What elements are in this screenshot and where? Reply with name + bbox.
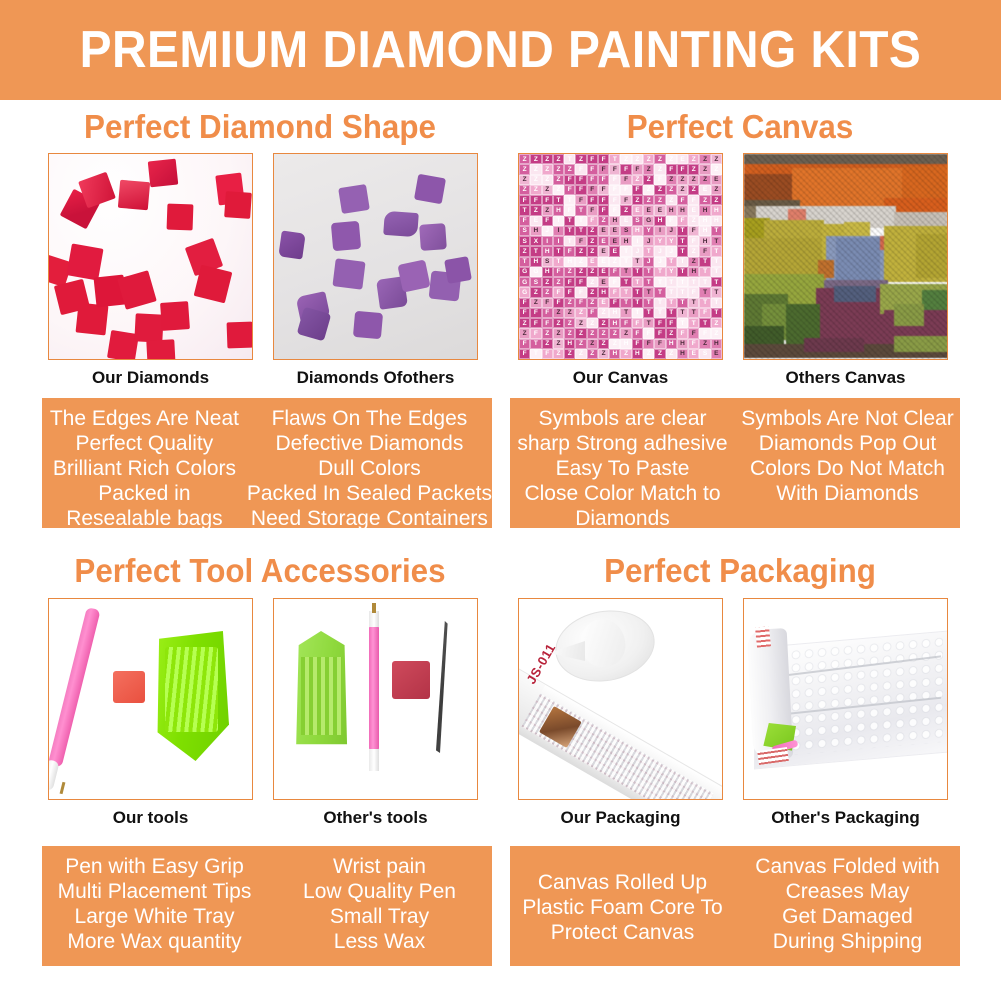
canvas-symbol-cell: Z [632, 175, 643, 185]
textblock-canvas: Symbols are clear sharp Strong adhesive … [510, 398, 960, 528]
canvas-symbol-cell: T [575, 205, 586, 215]
canvas-symbol-cell: E [688, 349, 699, 359]
canvas-symbol-cell: H [632, 349, 643, 359]
canvas-symbol-cell: Z [587, 318, 598, 328]
canvas-symbol-cell: Z [587, 287, 598, 297]
canvas-symbol-cell: T [519, 257, 530, 267]
canvas-symbol-cell: Z [688, 257, 699, 267]
pen-cap [369, 749, 379, 771]
canvas-symbol-cell: Z [564, 318, 575, 328]
canvas-symbol-cell: E [609, 226, 620, 236]
canvas-symbol-cell: E [654, 205, 665, 215]
canvas-symbol-cell: H [666, 339, 677, 349]
bullet: Canvas Rolled Up [538, 870, 707, 895]
canvas-symbol-cell: T [711, 277, 722, 287]
bullet: Colors Do Not Match [750, 456, 945, 481]
canvas-symbol-cell: T [564, 195, 575, 205]
canvas-symbol-cell: Z [666, 154, 677, 164]
canvas-symbol-cell: T [530, 246, 541, 256]
canvas-symbol-cell: F [666, 216, 677, 226]
canvas-symbol-cell: Z [699, 175, 710, 185]
image-panel-our-tools [48, 598, 253, 800]
canvas-symbol-cell: Z [643, 349, 654, 359]
canvas-symbol-cell: F [620, 185, 631, 195]
canvas-symbol-cell: Z [587, 339, 598, 349]
canvas-symbol-cell: H [553, 205, 564, 215]
textblock-canvas-right: Symbols Are Not Clear Diamonds Pop Out C… [735, 398, 960, 528]
canvas-symbol-cell: F [542, 349, 553, 359]
canvas-symbol-cell: Z [519, 175, 530, 185]
canvas-symbol-cell: T [711, 246, 722, 256]
canvas-symbol-cell: Z [530, 205, 541, 215]
canvas-symbol-cell: T [688, 277, 699, 287]
canvas-symbol-cell: F [575, 175, 586, 185]
bullet: Perfect Quality [76, 431, 214, 456]
bullet: Packed in [98, 481, 190, 506]
symbol-grid: ZZZZTZFFTZZZZZEZZZZZZZZFFFFFFZZFFZZZZZZZ… [519, 154, 722, 359]
canvas-symbol-cell: F [530, 195, 541, 205]
bullet: Close Color Match to [524, 481, 720, 506]
caption-others-tools: Other's tools [273, 808, 478, 828]
canvas-symbol-cell: F [699, 308, 710, 318]
canvas-symbol-cell: E [699, 185, 710, 195]
canvas-symbol-cell: F [564, 175, 575, 185]
bullet: More Wax quantity [67, 929, 241, 954]
canvas-symbol-cell: Z [666, 349, 677, 359]
canvas-symbol-cell: Z [654, 349, 665, 359]
canvas-symbol-cell: Z [711, 195, 722, 205]
canvas-symbol-cell: Z [688, 164, 699, 174]
canvas-symbol-cell: T [666, 257, 677, 267]
canvas-symbol-cell: Z [609, 328, 620, 338]
canvas-symbol-cell: T [654, 277, 665, 287]
canvas-symbol-cell: Z [553, 349, 564, 359]
canvas-symbol-cell: Z [699, 164, 710, 174]
canvas-symbol-cell: H [699, 216, 710, 226]
canvas-symbol-cell: T [677, 308, 688, 318]
mailer-stripe-print [755, 626, 771, 647]
canvas-symbol-cell: F [530, 308, 541, 318]
canvas-symbol-cell: T [699, 298, 710, 308]
canvas-symbol-cell: J [654, 257, 665, 267]
canvas-symbol-cell: T [530, 349, 541, 359]
tube-label-code: JS-011 [523, 637, 563, 688]
bullet: Plastic Foam Core To [522, 895, 722, 920]
canvas-symbol-cell: Z [530, 287, 541, 297]
canvas-symbol-cell: T [699, 318, 710, 328]
canvas-symbol-cell: H [711, 339, 722, 349]
canvas-symbol-cell: F [609, 185, 620, 195]
canvas-symbol-cell: F [632, 328, 643, 338]
large-green-tray [153, 631, 229, 761]
canvas-symbol-cell: J [643, 236, 654, 246]
bullet: Large White Tray [75, 904, 235, 929]
canvas-symbol-cell: H [530, 257, 541, 267]
canvas-symbol-cell: Z [699, 195, 710, 205]
canvas-symbol-cell: Y [666, 236, 677, 246]
canvas-symbol-cell: T [632, 287, 643, 297]
image-panel-others-packaging [743, 598, 948, 800]
canvas-symbol-cell: E [643, 205, 654, 215]
canvas-symbol-cell: F [609, 205, 620, 215]
canvas-symbol-cell: Z [575, 339, 586, 349]
canvas-symbol-cell: J [666, 226, 677, 236]
bullet: Less Wax [334, 929, 425, 954]
bullet: Resealable bags [66, 506, 222, 531]
canvas-symbol-cell: Z [598, 308, 609, 318]
caption-others-diamonds: Diamonds Ofothers [273, 368, 478, 388]
canvas-symbol-cell: H [609, 216, 620, 226]
canvas-symbol-cell: F [575, 298, 586, 308]
bullet: Defective Diamonds [275, 431, 463, 456]
canvas-symbol-cell: Z [587, 349, 598, 359]
canvas-symbol-cell: F [542, 195, 553, 205]
canvas-symbol-cell: H [542, 246, 553, 256]
canvas-symbol-cell: H [677, 205, 688, 215]
pen-needle [60, 782, 66, 794]
canvas-symbol-cell: F [575, 164, 586, 174]
canvas-symbol-cell: T [564, 236, 575, 246]
canvas-symbol-cell: S [519, 226, 530, 236]
canvas-symbol-cell: F [564, 287, 575, 297]
canvas-symbol-cell: Z [575, 267, 586, 277]
canvas-symbol-cell: F [688, 287, 699, 297]
canvas-symbol-cell: F [564, 185, 575, 195]
canvas-symbol-cell: T [666, 277, 677, 287]
canvas-symbol-cell: S [519, 236, 530, 246]
textblock-tools: Pen with Easy Grip Multi Placement Tips … [42, 846, 492, 966]
canvas-symbol-cell: J [666, 246, 677, 256]
canvas-symbol-cell: T [677, 298, 688, 308]
canvas-symbol-cell: F [564, 205, 575, 215]
canvas-symbol-cell: H [677, 349, 688, 359]
blurry-canvas-art [744, 154, 947, 359]
canvas-symbol-cell: F [620, 175, 631, 185]
canvas-symbol-cell: Z [587, 226, 598, 236]
canvas-symbol-cell: F [519, 308, 530, 318]
canvas-symbol-cell: T [711, 236, 722, 246]
canvas-symbol-cell: Z [564, 164, 575, 174]
canvas-symbol-cell: Z [519, 318, 530, 328]
section-title-packaging: Perfect Packaging [531, 552, 949, 590]
canvas-symbol-cell: G [519, 277, 530, 287]
canvas-symbol-cell: Z [553, 308, 564, 318]
canvas-symbol-cell: F [564, 277, 575, 287]
bullet: During Shipping [773, 929, 922, 954]
canvas-symbol-cell: Z [553, 339, 564, 349]
canvas-symbol-cell: T [699, 287, 710, 297]
canvas-symbol-cell: F [677, 328, 688, 338]
canvas-symbol-cell: F [564, 246, 575, 256]
canvas-symbol-cell: T [677, 226, 688, 236]
small-green-tray [290, 631, 352, 749]
canvas-symbol-cell: Z [643, 164, 654, 174]
canvas-symbol-cell: Z [620, 349, 631, 359]
canvas-symbol-cell: F [677, 164, 688, 174]
canvas-symbol-cell: Z [542, 154, 553, 164]
canvas-symbol-cell: F [699, 246, 710, 256]
pen-tip-ferrule [48, 759, 60, 791]
pen-needle [372, 603, 376, 613]
canvas-symbol-cell: Z [519, 154, 530, 164]
canvas-symbol-cell: Z [598, 328, 609, 338]
image-panel-our-packaging: JS-011 [518, 598, 723, 800]
canvas-symbol-cell: Z [587, 267, 598, 277]
canvas-symbol-cell: F [677, 216, 688, 226]
textblock-tools-right: Wrist pain Low Quality Pen Small Tray Le… [267, 846, 492, 966]
canvas-symbol-cell: T [677, 236, 688, 246]
section-title-canvas: Perfect Canvas [531, 108, 949, 146]
canvas-symbol-cell: I [542, 236, 553, 246]
canvas-symbol-cell: T [632, 277, 643, 287]
canvas-symbol-cell: Z [564, 267, 575, 277]
caption-our-diamonds: Our Diamonds [48, 368, 253, 388]
canvas-symbol-cell: Z [699, 339, 710, 349]
bullet: Wrist pain [333, 854, 426, 879]
canvas-symbol-cell: E [688, 205, 699, 215]
canvas-symbol-cell: T [620, 277, 631, 287]
canvas-symbol-cell: T [654, 308, 665, 318]
infographic-page: PREMIUM DIAMOND PAINTING KITS Perfect Di… [0, 0, 1001, 1001]
bullet: The Edges Are Neat [50, 406, 239, 431]
canvas-symbol-cell: T [677, 246, 688, 256]
canvas-symbol-cell: F [643, 328, 654, 338]
canvas-symbol-cell: E [620, 216, 631, 226]
canvas-symbol-cell: Z [654, 195, 665, 205]
canvas-symbol-cell: F [530, 318, 541, 328]
canvas-symbol-cell: T [553, 216, 564, 226]
canvas-symbol-cell: Z [609, 339, 620, 349]
canvas-symbol-cell: Z [553, 328, 564, 338]
canvas-symbol-cell: F [598, 175, 609, 185]
canvas-symbol-cell: S [699, 349, 710, 359]
canvas-symbol-cell: H [654, 216, 665, 226]
canvas-symbol-cell: T [620, 246, 631, 256]
canvas-symbol-cell: Z [564, 308, 575, 318]
header-banner: PREMIUM DIAMOND PAINTING KITS [0, 0, 1001, 100]
canvas-symbol-cell: S [542, 257, 553, 267]
canvas-symbol-cell: E [598, 226, 609, 236]
canvas-symbol-cell: F [609, 298, 620, 308]
bullet: Protect Canvas [551, 920, 695, 945]
canvas-symbol-cell: Z [575, 257, 586, 267]
canvas-symbol-cell: F [643, 339, 654, 349]
canvas-symbol-cell: E [677, 154, 688, 164]
canvas-symbol-cell: T [711, 226, 722, 236]
canvas-symbol-cell: E [632, 205, 643, 215]
canvas-symbol-cell: T [711, 267, 722, 277]
canvas-symbol-cell: T [711, 298, 722, 308]
canvas-symbol-cell: Z [688, 246, 699, 256]
canvas-symbol-cell: Z [654, 154, 665, 164]
canvas-symbol-cell: T [688, 318, 699, 328]
canvas-symbol-cell: Z [654, 164, 665, 174]
canvas-symbol-cell: Z [598, 216, 609, 226]
canvas-symbol-cell: F [632, 318, 643, 328]
canvas-symbol-cell: F [688, 339, 699, 349]
canvas-symbol-cell: H [620, 236, 631, 246]
canvas-symbol-cell: H [530, 226, 541, 236]
canvas-symbol-cell: Z [666, 175, 677, 185]
canvas-symbol-cell: F [575, 195, 586, 205]
pen-ferrule [369, 611, 379, 627]
canvas-symbol-cell: H [542, 267, 553, 277]
canvas-symbol-cell: Z [654, 185, 665, 195]
canvas-symbol-cell: T [643, 246, 654, 256]
canvas-symbol-cell: Z [553, 277, 564, 287]
canvas-symbol-cell: G [519, 287, 530, 297]
canvas-symbol-cell: Z [632, 195, 643, 205]
canvas-symbol-cell: F [598, 154, 609, 164]
canvas-symbol-cell: Z [677, 185, 688, 195]
canvas-symbol-cell: Z [688, 154, 699, 164]
image-panel-others-canvas [743, 153, 948, 360]
canvas-symbol-cell: T [620, 287, 631, 297]
canvas-symbol-cell: F [519, 216, 530, 226]
bullet: Packed In Sealed Packets [247, 481, 492, 506]
canvas-symbol-cell: F [609, 195, 620, 205]
image-panel-others-diamonds [273, 153, 478, 360]
canvas-symbol-cell: F [598, 195, 609, 205]
canvas-symbol-cell: F [575, 236, 586, 246]
canvas-symbol-cell: Z [530, 154, 541, 164]
canvas-symbol-cell: X [530, 236, 541, 246]
bullet: Small Tray [330, 904, 429, 929]
canvas-symbol-cell: G [643, 216, 654, 226]
canvas-symbol-cell: Z [620, 154, 631, 164]
canvas-symbol-cell: E [598, 298, 609, 308]
textblock-packaging: Canvas Rolled Up Plastic Foam Core To Pr… [510, 846, 960, 966]
canvas-symbol-cell: Z [553, 318, 564, 328]
image-panel-our-diamonds [48, 153, 253, 360]
canvas-symbol-cell: Z [575, 349, 586, 359]
canvas-symbol-cell: T [575, 226, 586, 236]
canvas-symbol-cell: H [711, 205, 722, 215]
canvas-symbol-cell: T [643, 308, 654, 318]
canvas-symbol-cell: H [632, 226, 643, 236]
canvas-symbol-cell: Z [564, 328, 575, 338]
canvas-symbol-cell: Z [587, 236, 598, 246]
canvas-symbol-cell: F [666, 318, 677, 328]
canvas-symbol-cell: F [609, 164, 620, 174]
tweezers [434, 621, 454, 753]
canvas-symbol-cell: Z [666, 185, 677, 195]
canvas-symbol-cell: E [711, 349, 722, 359]
canvas-symbol-cell: T [553, 195, 564, 205]
canvas-symbol-cell: Z [620, 328, 631, 338]
canvas-symbol-cell: F [587, 175, 598, 185]
canvas-symbol-cell: Z [587, 298, 598, 308]
canvas-symbol-cell: Z [587, 328, 598, 338]
canvas-symbol-cell: F [553, 298, 564, 308]
canvas-symbol-cell: T [699, 277, 710, 287]
textblock-diamond-right: Flaws On The Edges Defective Diamonds Du… [247, 398, 492, 528]
canvas-symbol-cell: H [688, 267, 699, 277]
canvas-symbol-cell: F [542, 298, 553, 308]
rolled-canvas-inside [521, 694, 713, 800]
canvas-symbol-cell: F [632, 185, 643, 195]
canvas-symbol-cell: Z [553, 154, 564, 164]
canvas-symbol-cell: H [564, 257, 575, 267]
caption-others-canvas: Others Canvas [743, 368, 948, 388]
canvas-symbol-cell: Z [688, 175, 699, 185]
canvas-symbol-cell: Z [666, 328, 677, 338]
canvas-symbol-cell: F [632, 164, 643, 174]
canvas-symbol-cell: J [643, 257, 654, 267]
canvas-symbol-cell: S [632, 216, 643, 226]
canvas-symbol-cell: Y [643, 226, 654, 236]
canvas-symbol-cell: Z [643, 195, 654, 205]
caption-our-packaging: Our Packaging [518, 808, 723, 828]
canvas-symbol-cell: Z [530, 164, 541, 174]
canvas-symbol-cell: F [575, 287, 586, 297]
canvas-symbol-cell: T [666, 298, 677, 308]
bullet: Dull Colors [318, 456, 421, 481]
canvas-symbol-cell: T [654, 298, 665, 308]
canvas-symbol-cell: T [575, 216, 586, 226]
canvas-symbol-cell: I [553, 226, 564, 236]
canvas-symbol-cell: Z [553, 185, 564, 195]
canvas-symbol-cell: Z [711, 164, 722, 174]
canvas-symbol-cell: F [530, 328, 541, 338]
canvas-symbol-cell: F [699, 328, 710, 338]
canvas-symbol-cell: F [575, 185, 586, 195]
canvas-symbol-cell: E [598, 267, 609, 277]
canvas-symbol-cell: F [609, 277, 620, 287]
canvas-symbol-cell: Z [620, 205, 631, 215]
canvas-symbol-cell: T [677, 277, 688, 287]
canvas-symbol-cell: T [699, 267, 710, 277]
canvas-symbol-cell: Z [530, 175, 541, 185]
canvas-symbol-cell: F [620, 164, 631, 174]
canvas-symbol-cell: T [643, 267, 654, 277]
canvas-symbol-cell: T [688, 298, 699, 308]
canvas-symbol-cell: Z [711, 154, 722, 164]
canvas-symbol-cell: T [620, 257, 631, 267]
wax-square [113, 671, 145, 703]
canvas-symbol-cell: T [620, 267, 631, 277]
canvas-symbol-cell: F [519, 339, 530, 349]
bullet: Get Damaged [782, 904, 913, 929]
canvas-symbol-cell: F [587, 185, 598, 195]
canvas-symbol-cell: Z [688, 185, 699, 195]
bullet: Creases May [786, 879, 910, 904]
textblock-tools-left: Pen with Easy Grip Multi Placement Tips … [42, 846, 267, 966]
image-panel-our-canvas: ZZZZTZFFTZZZZZEZZZZZZZZFFFFFFZZFFZZZZZZZ… [518, 153, 723, 360]
canvas-symbol-cell: Z [542, 339, 553, 349]
canvas-symbol-cell: H [609, 318, 620, 328]
bullet: Symbols are clear [538, 406, 706, 431]
canvas-symbol-cell: F [587, 216, 598, 226]
canvas-symbol-cell: F [609, 175, 620, 185]
canvas-symbol-cell: Z [643, 185, 654, 195]
canvas-symbol-cell: T [564, 216, 575, 226]
canvas-symbol-cell: F [688, 226, 699, 236]
canvas-symbol-cell: F [542, 216, 553, 226]
canvas-symbol-cell: Z [699, 154, 710, 164]
canvas-symbol-cell: E [587, 257, 598, 267]
canvas-symbol-cell: F [553, 287, 564, 297]
canvas-symbol-cell: F [519, 195, 530, 205]
canvas-symbol-cell: T [632, 298, 643, 308]
canvas-symbol-cell: T [666, 287, 677, 297]
canvas-symbol-cell: E [530, 216, 541, 226]
canvas-symbol-cell: Z [598, 318, 609, 328]
canvas-symbol-cell: F [620, 318, 631, 328]
bullet: Low Quality Pen [303, 879, 456, 904]
canvas-symbol-cell: H [699, 205, 710, 215]
pink-pen-body [369, 623, 379, 753]
